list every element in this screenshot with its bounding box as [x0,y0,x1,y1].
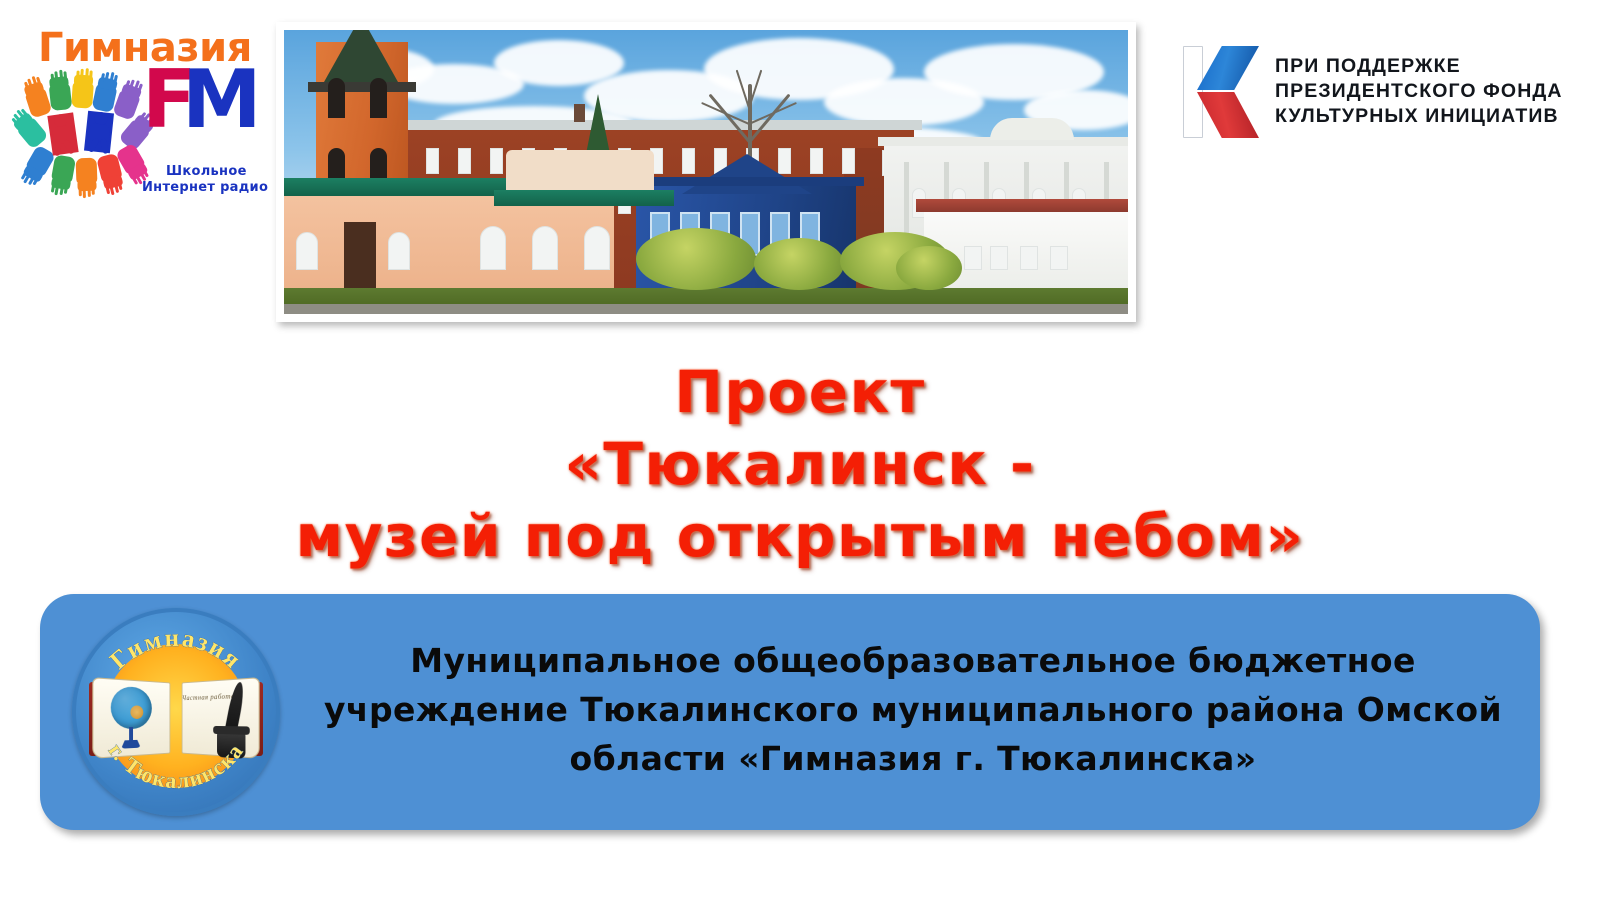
white-building-pediment [990,118,1074,140]
emblem-arc-bottom-label: г. Тюкалинска [104,738,249,793]
school-name-banner: Гимназия Частная работа [40,594,1540,830]
emblem-arc-bottom-text: г. Тюкалинска [72,608,280,816]
logo-tagline-line1: Школьное [166,164,247,179]
fund-text-line3: КУЛЬТУРНЫХ ИНИЦИАТИВ [1275,105,1559,127]
handprints-cluster-icon [20,76,150,184]
fund-text-line2: ПРЕЗИДЕНТСКОГО ФОНДА [1275,80,1563,102]
brick-building-roof [346,120,922,130]
handprint-icon [51,154,76,183]
window-shape [296,232,318,270]
window-shape [388,232,410,270]
tree-branch [701,102,749,125]
presidential-fund-logo: ПРИ ПОДДЕРЖКЕ ПРЕЗИДЕНТСКОГО ФОНДА КУЛЬТ… [1175,42,1585,148]
red-roof-shape [916,199,1128,212]
handprint-icon [76,158,98,185]
project-title-line3: музей под открытым небом» [0,500,1600,572]
bell-tower-cornice [308,82,416,92]
school-name-line3: области «Гимназия г. Тюкалинска» [308,734,1518,783]
k-red-arm-shape [1197,92,1259,138]
project-title-line2: «Тюкалинск - [0,428,1600,500]
window-shape [990,246,1008,270]
peach-building-roof-upper [494,190,674,206]
shrub-bush [754,238,844,290]
blue-house-roof [628,177,864,186]
gimnazia-fm-logo: Гимназия F M Школьное [14,28,272,200]
window-shape [426,148,439,174]
window-shape [842,148,855,174]
handprint-icon [49,83,73,111]
entrance-door [344,222,376,288]
shrub-bush [896,246,962,290]
window-shape [458,148,471,174]
svg-text:г. Тюкалинска: г. Тюкалинска [104,738,249,793]
window-shape [1020,246,1038,270]
logo-tagline-line2: Интернет радио [142,180,268,195]
school-name-line2: учреждение Тюкалинского муниципального р… [308,685,1518,734]
bell-arch-opening [370,78,387,118]
presentation-slide: Гимназия F M Школьное [0,0,1600,902]
dancing-child-icon [84,111,114,153]
tree-branch [748,94,790,143]
peach-building-pediment [506,150,654,194]
shrub-bush [636,228,756,290]
window-shape [964,246,982,270]
bell-arch-opening [328,78,345,118]
window-shape [490,148,503,174]
gimnazia-emblem: Гимназия Частная работа [72,608,280,816]
k-blue-arm-shape [1197,46,1259,90]
pavement-area [284,304,1128,314]
tree-branch [708,94,750,143]
fund-support-text: ПРИ ПОДДЕРЖКЕ ПРЕЗИДЕНТСКОГО ФОНДА КУЛЬТ… [1275,54,1563,129]
school-full-name: Муниципальное общеобразовательное бюджет… [308,636,1518,783]
window-shape [1050,246,1068,270]
project-title: Проект «Тюкалинск - музей под открытым н… [0,356,1600,572]
handprint-icon [16,116,49,149]
handprint-icon [71,81,94,108]
window-shape [480,226,506,270]
tree-branch [749,102,797,125]
project-title-line1: Проект [0,356,1600,428]
window-shape [532,226,558,270]
logo-letter-m: M [182,66,262,134]
window-shape [584,226,610,270]
peach-building [284,192,614,288]
chimney-shape [574,104,585,122]
townscape-photo-frame [276,22,1136,322]
school-name-line1: Муниципальное общеобразовательное бюджет… [308,636,1518,685]
fund-monogram-k-icon [1175,42,1261,142]
dancing-child-icon [47,112,78,155]
tyukalinsk-townscape-photo [284,30,1128,314]
fund-text-line1: ПРИ ПОДДЕРЖКЕ [1275,55,1461,77]
